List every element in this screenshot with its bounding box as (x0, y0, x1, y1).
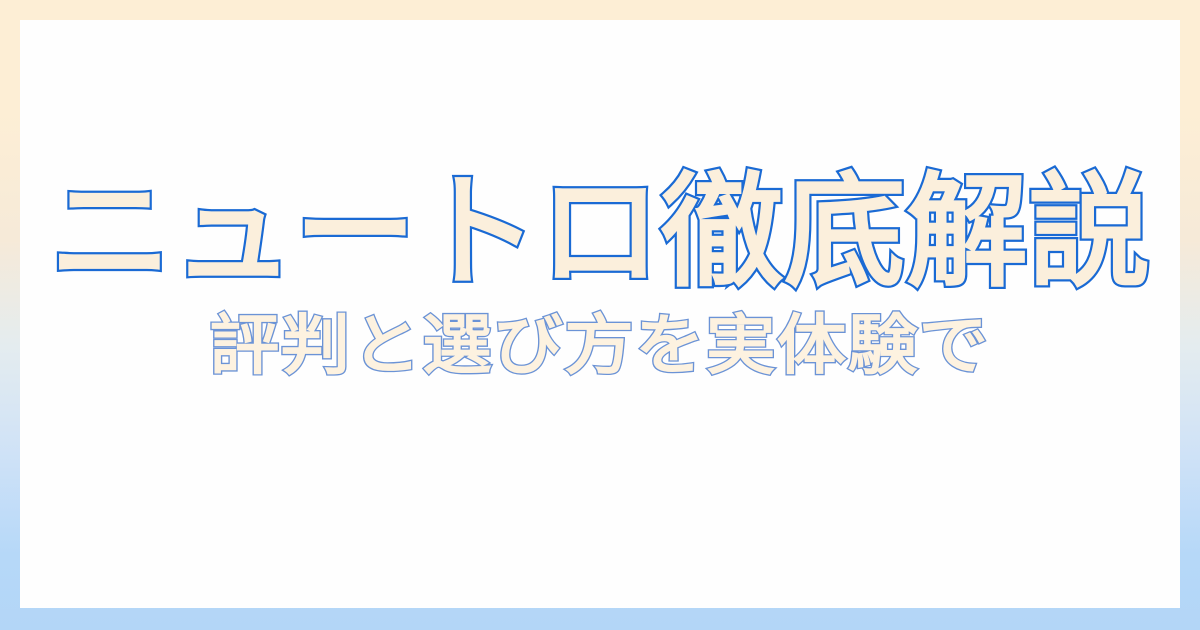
eyecatch-white-canvas: ニュートロ徹底解説 評判と選び方を実体験で (20, 20, 1180, 608)
page-subtitle: 評判と選び方を実体験で (210, 313, 990, 379)
page-title: ニュートロ徹底解説 (50, 171, 1151, 295)
subtitle-row: 評判と選び方を実体験で (20, 313, 1180, 379)
hero-text-stack: ニュートロ徹底解説 評判と選び方を実体験で (20, 20, 1180, 608)
eyecatch-gradient-frame: ニュートロ徹底解説 評判と選び方を実体験で (0, 0, 1200, 630)
title-row: ニュートロ徹底解説 (20, 171, 1180, 295)
